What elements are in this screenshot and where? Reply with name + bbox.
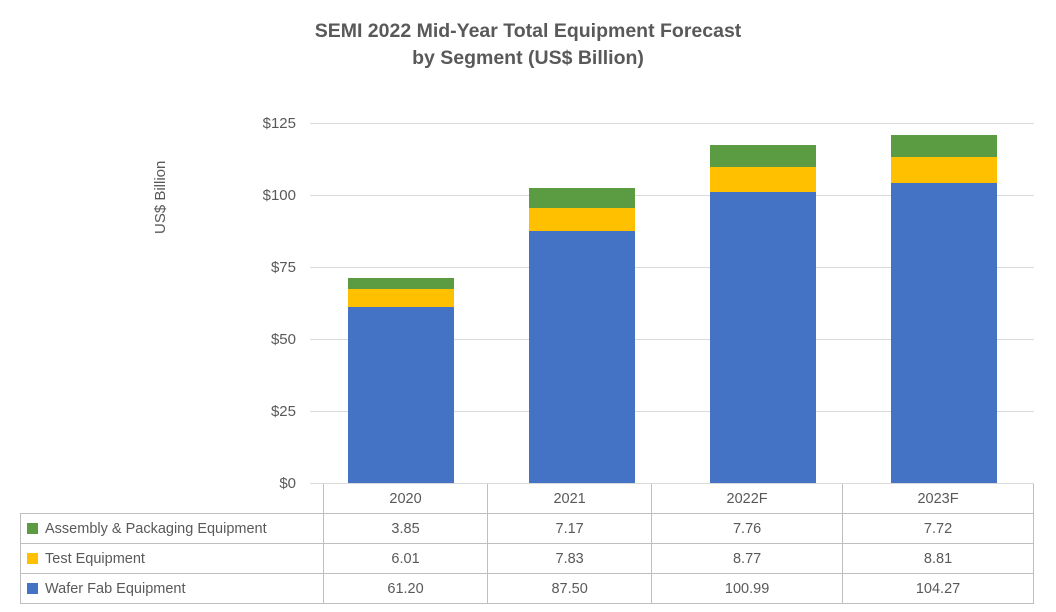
bar-segment[interactable] <box>529 231 635 483</box>
legend-swatch-icon <box>27 523 38 534</box>
table-cell: 7.17 <box>488 514 652 544</box>
chart-title: SEMI 2022 Mid-Year Total Equipment Forec… <box>0 18 1056 72</box>
y-axis-tick-label: $100 <box>236 188 296 203</box>
y-axis-tick-label: $75 <box>236 260 296 275</box>
y-axis-tick-label: $125 <box>236 116 296 131</box>
bar-segment[interactable] <box>891 135 997 157</box>
y-axis-tick-label: $25 <box>236 404 296 419</box>
legend-label: Test Equipment <box>45 551 145 567</box>
table-row-label: Test Equipment <box>21 544 324 574</box>
table-row-label: Assembly & Packaging Equipment <box>21 514 324 544</box>
y-axis-label: US$ Billion <box>152 161 169 234</box>
table-cell: 7.83 <box>488 544 652 574</box>
bar-segment[interactable] <box>710 167 816 192</box>
table-cell: 87.50 <box>488 574 652 604</box>
bar-group[interactable] <box>710 145 816 483</box>
legend-swatch-icon <box>27 553 38 564</box>
chart-root: SEMI 2022 Mid-Year Total Equipment Forec… <box>0 0 1056 612</box>
bar-segment[interactable] <box>348 307 454 483</box>
table-column-header: 2021 <box>488 484 652 514</box>
table-header-row: 202020212022F2023F <box>21 484 1034 514</box>
bar-segment[interactable] <box>891 157 997 182</box>
table-row: Test Equipment6.017.838.778.81 <box>21 544 1034 574</box>
table-cell: 3.85 <box>324 514 488 544</box>
bar-segment[interactable] <box>710 192 816 483</box>
bar-segment[interactable] <box>348 278 454 289</box>
chart-title-line1: SEMI 2022 Mid-Year Total Equipment Forec… <box>0 18 1056 45</box>
y-axis-tick-label: $50 <box>236 332 296 347</box>
chart-title-line2: by Segment (US$ Billion) <box>0 45 1056 72</box>
table-column-header: 2020 <box>324 484 488 514</box>
bar-segment[interactable] <box>529 188 635 209</box>
table-column-header: 2022F <box>652 484 843 514</box>
plot-area <box>310 124 1034 484</box>
legend-swatch-icon <box>27 583 38 594</box>
table-cell: 104.27 <box>843 574 1034 604</box>
bar-segment[interactable] <box>710 145 816 167</box>
table-cell: 7.76 <box>652 514 843 544</box>
table-cell: 61.20 <box>324 574 488 604</box>
table-cell: 8.77 <box>652 544 843 574</box>
table-row: Wafer Fab Equipment61.2087.50100.99104.2… <box>21 574 1034 604</box>
bar-group[interactable] <box>348 278 454 483</box>
bar-group[interactable] <box>529 188 635 483</box>
table-column-header: 2023F <box>843 484 1034 514</box>
legend-label: Wafer Fab Equipment <box>45 581 186 597</box>
bar-segment[interactable] <box>529 208 635 231</box>
table-corner-cell <box>21 484 324 514</box>
bar-segment[interactable] <box>891 183 997 483</box>
table-cell: 100.99 <box>652 574 843 604</box>
table-row-label: Wafer Fab Equipment <box>21 574 324 604</box>
table-row: Assembly & Packaging Equipment3.857.177.… <box>21 514 1034 544</box>
legend-label: Assembly & Packaging Equipment <box>45 521 267 537</box>
bar-group[interactable] <box>891 135 997 483</box>
gridline <box>310 123 1034 124</box>
data-table: 202020212022F2023FAssembly & Packaging E… <box>20 484 1034 604</box>
table-cell: 6.01 <box>324 544 488 574</box>
table-cell: 7.72 <box>843 514 1034 544</box>
bar-segment[interactable] <box>348 289 454 306</box>
table-cell: 8.81 <box>843 544 1034 574</box>
